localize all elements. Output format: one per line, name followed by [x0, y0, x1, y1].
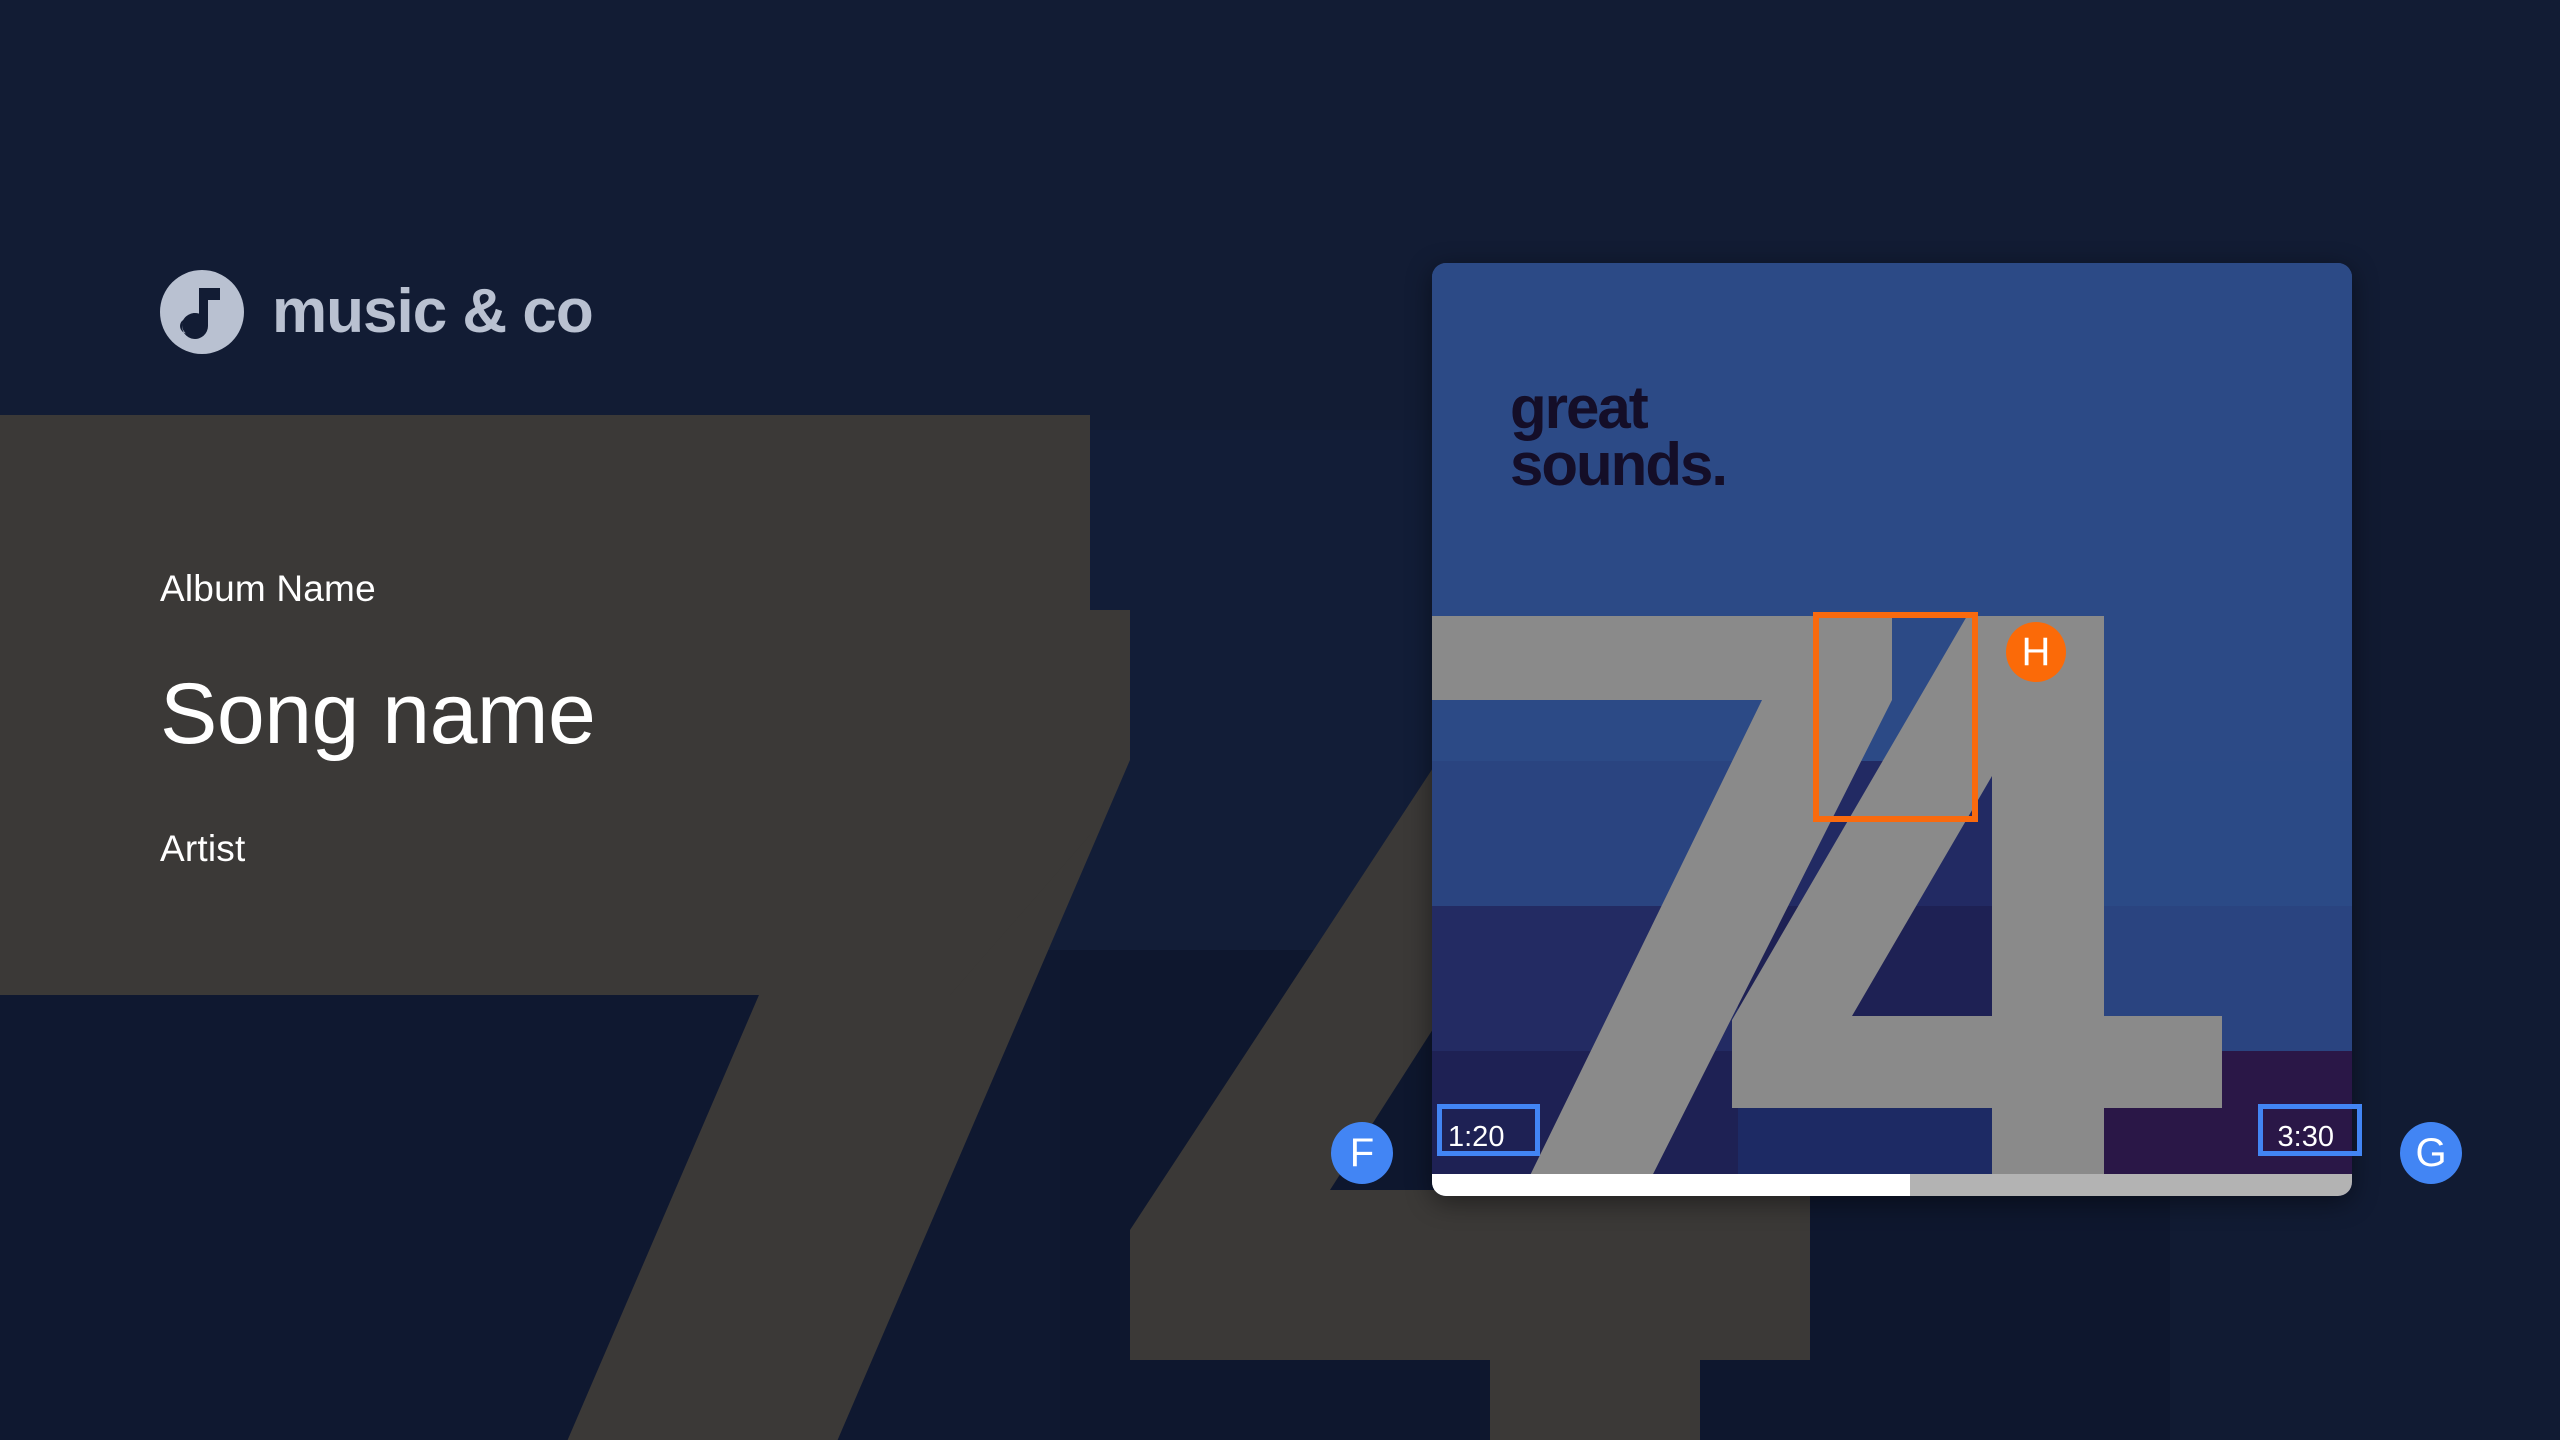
annotation-badge-g: G	[2400, 1122, 2462, 1184]
annotation-badge-h: H	[2006, 622, 2066, 682]
progress-fill	[1432, 1174, 1910, 1196]
app-root: Album Name Song name Artist music & co g…	[0, 0, 2560, 1440]
progress-bar[interactable]	[1432, 1174, 2352, 1196]
brand-logo[interactable]: music & co	[160, 270, 593, 354]
brand-name: music & co	[272, 281, 593, 343]
total-time: 3:30	[2270, 1116, 2342, 1160]
now-playing-panel: Album Name Song name Artist	[0, 415, 1090, 995]
music-note-icon	[160, 270, 244, 354]
annotation-badge-f: F	[1331, 1122, 1393, 1184]
album-art-card: great sounds.	[1432, 263, 2352, 1196]
artist-name: Artist	[160, 830, 595, 867]
album-tagline: great sounds.	[1510, 379, 1726, 493]
current-time: 1:20	[1440, 1116, 1512, 1160]
album-name: Album Name	[160, 570, 595, 607]
album-artwork-number	[1432, 616, 2352, 1196]
song-name: Song name	[160, 671, 595, 757]
